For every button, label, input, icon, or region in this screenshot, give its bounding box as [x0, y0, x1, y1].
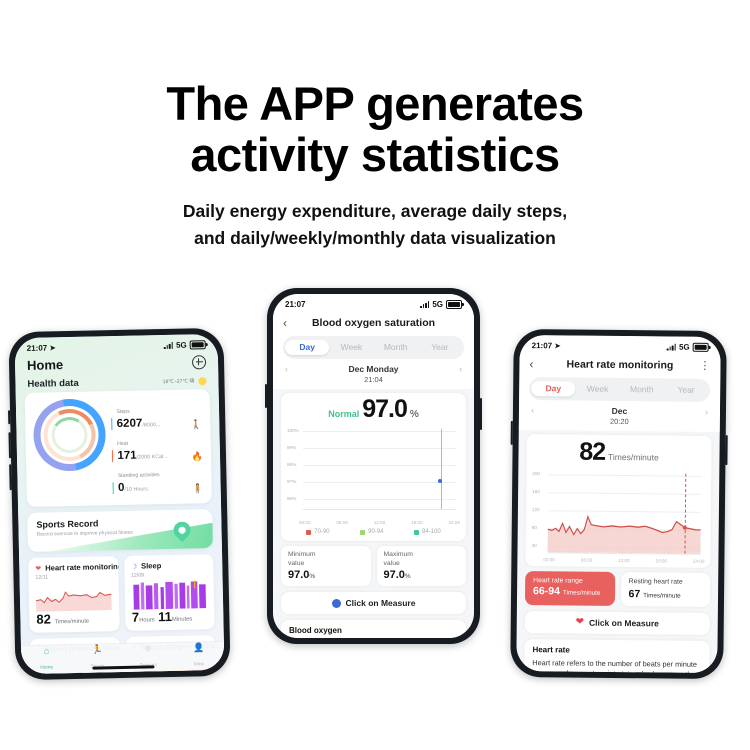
sleep-bars-chart [131, 580, 207, 610]
y-tick: 96% [287, 496, 296, 501]
tile-date: 12/11 [35, 573, 111, 581]
add-icon[interactable] [192, 355, 206, 369]
x-tick: 24:00 [449, 520, 461, 525]
maximum-value-card: Maximum value 97.0% [377, 546, 467, 586]
legend-item: 94-100 [414, 529, 441, 535]
phone-right: 21:07 ➤ 5G ‹ Heart rate monitoring ⋮ Day… [510, 329, 727, 679]
phone-center-screen: 21:07 5G ‹ Blood oxygen saturation Day W… [273, 294, 474, 638]
heart-rate-chart-card: 82 Times/minute 200 160 120 80 40 [525, 434, 711, 568]
heart-rate-reading: 82 Times/minute [526, 434, 711, 470]
prev-date-icon[interactable]: ‹ [531, 405, 534, 415]
card-value: 97.0% [288, 569, 364, 581]
nav-header: ‹ Heart rate monitoring ⋮ [519, 352, 720, 379]
stat-row-standing: Standing activities 0/10 Hours 🧍 [112, 462, 204, 496]
info-article: Blood oxygen It refers to the oxygen con… [281, 620, 466, 638]
tile-row-1: ❤ Heart rate monitoring 12/11 82 Times/m… [28, 554, 215, 633]
battery-icon [190, 340, 206, 349]
map-pin-icon [173, 522, 190, 539]
measure-label: Click on Measure [589, 617, 659, 628]
card-label: Maximum [384, 551, 460, 560]
y-tick: 120 [532, 507, 540, 512]
heart-rate-range-card: Heart rate range 66-94 Times/minute [525, 571, 615, 605]
y-tick: 98% [287, 462, 296, 467]
next-date-icon[interactable]: › [705, 407, 708, 417]
tab-label: Home [40, 665, 53, 670]
phone-right-screen: 21:07 ➤ 5G ‹ Heart rate monitoring ⋮ Day… [516, 335, 721, 673]
phone-left: 21:07 ➤ 5G Home Health data [8, 328, 230, 680]
stand-icon: 🧍 [192, 483, 204, 494]
x-tick: 12:00 [374, 520, 386, 525]
flame-icon: 🔥 [191, 451, 203, 462]
y-tick: 160 [532, 489, 540, 494]
stat-label: Standing activities [118, 472, 160, 479]
headline-block: The APP generates activity statistics Da… [0, 78, 750, 252]
stat-row-heat: Heat 171/2000 KCal... 🔥 [111, 430, 203, 464]
network-label: 5G [679, 343, 690, 352]
reading-status: Normal [328, 409, 359, 419]
status-time: 21:07 [27, 343, 48, 352]
date-nav[interactable]: ‹ Dec Monday › [273, 359, 474, 374]
status-bar: 21:07 ➤ 5G [520, 335, 721, 354]
power-button [480, 398, 482, 430]
tile-sleep[interactable]: ☽ Sleep 12/09 7Hours 11Minutes [124, 554, 215, 631]
date-label: Dec [612, 406, 628, 416]
tab-day[interactable]: Day [285, 340, 329, 355]
y-tick: 80 [532, 525, 537, 530]
signal-icon [164, 342, 174, 349]
person-icon: 👤 [173, 642, 224, 653]
moon-icon: ☽ [131, 562, 137, 570]
subheadline-line-1: Daily energy expenditure, average daily … [183, 201, 567, 221]
heart-rate-summary-row: Heart rate range 66-94 Times/minute Rest… [525, 571, 710, 606]
sun-icon [198, 377, 206, 385]
bottom-tab-bar[interactable]: ⌂Home 🏃Sports ⌾Devices 👤Mine [21, 641, 225, 674]
x-tick: 18:00 [656, 558, 668, 563]
tab-home[interactable]: ⌂Home [21, 645, 72, 674]
next-date-icon[interactable]: › [459, 364, 462, 374]
y-tick: 100% [287, 428, 299, 433]
location-arrow-icon: ➤ [49, 343, 56, 352]
y-tick: 97% [287, 479, 296, 484]
battery-icon [693, 343, 709, 352]
stat-suffix: /8000... [142, 422, 160, 428]
tab-month[interactable]: Month [374, 340, 418, 355]
tile-heart-rate[interactable]: ❤ Heart rate monitoring 12/11 82 Times/m… [28, 556, 119, 633]
more-options-icon[interactable]: ⋮ [696, 362, 710, 370]
x-tick: 06:00 [581, 558, 593, 563]
health-data-title: Health data [27, 378, 78, 390]
reading-time: 21:04 [273, 375, 474, 384]
data-point [682, 526, 686, 530]
legend-item: 70-90 [306, 529, 329, 535]
devices-icon: ⌾ [122, 643, 173, 654]
tile-title: Heart rate monitoring [45, 562, 119, 573]
legend-label: 70-90 [314, 529, 329, 535]
side-button [8, 410, 10, 424]
card-label: Minimum [288, 551, 364, 560]
network-label: 5G [432, 300, 443, 309]
tab-year[interactable]: Year [418, 340, 462, 355]
phone-left-screen: 21:07 ➤ 5G Home Health data [15, 334, 225, 674]
card-value: 66-94 Times/minute [533, 585, 607, 598]
location-arrow-icon: ➤ [554, 341, 561, 350]
signal-icon [420, 301, 429, 308]
y-tick: 99% [287, 445, 296, 450]
heart-icon: ❤ [576, 617, 584, 627]
headline-line-1: The APP generates [166, 77, 583, 130]
subheadline-line-2: and daily/weekly/monthly data visualizat… [0, 225, 750, 252]
sports-record-card[interactable]: Sports Record Record exercise to improve… [27, 509, 213, 552]
card-label: Resting heart rate [629, 578, 703, 587]
status-time: 21:07 [285, 300, 305, 309]
tile-value: 82 Times/minute [36, 610, 112, 627]
period-tabs[interactable]: Day Week Month Year [283, 336, 464, 359]
article-title: Heart rate [532, 645, 701, 656]
heart-rate-chart[interactable]: 200 160 120 80 40 [531, 470, 705, 558]
card-value: 97.0% [384, 569, 460, 581]
tab-year[interactable]: Year [664, 382, 708, 397]
y-tick: 40 [532, 543, 537, 548]
reading-value: 97.0 [362, 395, 407, 424]
tab-month[interactable]: Month [620, 382, 664, 397]
page-title: Blood oxygen saturation [297, 317, 450, 329]
card-value: 67 Times/minute [628, 588, 702, 601]
data-point [438, 479, 442, 483]
tab-mine[interactable]: 👤Mine [173, 642, 224, 671]
stat-value: 171 [117, 450, 136, 462]
health-summary-card[interactable]: Steps 6207/8000... 🚶 Heat 171/2000 KCal.… [25, 389, 212, 507]
card-label: value [384, 560, 460, 569]
stat-suffix: /2000 KCal... [137, 454, 168, 461]
article-title: Blood oxygen [289, 626, 458, 635]
stat-value: 6207 [117, 418, 143, 431]
volume-button [511, 421, 513, 445]
stat-suffix: /10 Hours [124, 486, 147, 492]
back-icon[interactable]: ‹ [283, 316, 297, 330]
tile-title: Sleep [141, 561, 161, 570]
reading-unit: % [410, 409, 419, 420]
x-tick: 12:00 [618, 558, 630, 563]
legend-label: 94-100 [422, 529, 441, 535]
tab-day[interactable]: Day [531, 381, 575, 396]
period-tabs[interactable]: Day Week Month Year [529, 377, 710, 402]
spo2-reading: Normal 97.0 % [281, 393, 466, 425]
x-tick: 24:00 [693, 559, 705, 564]
tab-week[interactable]: Week [575, 382, 619, 397]
measure-button[interactable]: Click on Measure [281, 592, 466, 614]
battery-icon [446, 300, 462, 309]
selection-line [441, 429, 442, 509]
x-tick: 00:00 [543, 557, 555, 562]
phone-center: 21:07 5G ‹ Blood oxygen saturation Day W… [267, 288, 480, 644]
prev-date-icon[interactable]: ‹ [285, 364, 288, 374]
reading-value: 82 [579, 438, 605, 467]
legend-item: 90-94 [360, 529, 383, 535]
x-tick: 06:00 [336, 520, 348, 525]
spo2-icon [332, 599, 341, 608]
promo-page: The APP generates activity statistics Da… [0, 0, 750, 750]
card-label: value [288, 560, 364, 569]
heart-rate-area-series [547, 470, 701, 554]
activity-rings [33, 398, 106, 471]
power-button [725, 435, 727, 465]
stat-row-steps: Steps 6207/8000... 🚶 [111, 398, 203, 432]
network-label: 5G [176, 341, 187, 350]
heart-icon: ❤ [35, 564, 41, 572]
tile-date: 12/09 [131, 571, 207, 579]
home-title: Home [27, 357, 63, 373]
card-label: Heart rate range [533, 577, 607, 585]
info-article: Heart rate Heart rate refers to the numb… [523, 639, 709, 674]
date-nav[interactable]: ‹ Dec › [519, 400, 720, 417]
tab-label: Mine [194, 662, 205, 667]
tile-value: 7Hours 11Minutes [132, 608, 208, 625]
home-scroll[interactable]: 21:07 ➤ 5G Home Health data [15, 334, 225, 674]
weather-widget: 18℃~27℃ 晴 [163, 377, 207, 386]
status-bar: 21:07 5G [273, 294, 474, 311]
chart-legend: 70-90 90-94 94-100 [281, 525, 466, 537]
x-tick: 18:00 [411, 520, 423, 525]
measure-button[interactable]: ❤ Click on Measure [525, 611, 710, 635]
status-time: 21:07 [532, 341, 553, 350]
nav-header: ‹ Blood oxygen saturation [273, 311, 474, 336]
resting-heart-rate-card: Resting heart rate 67 Times/minute [620, 572, 710, 606]
spo2-chart-card: Normal 97.0 % 100% 99% 98% 97% 96% 00:00 [281, 393, 466, 541]
date-label: Dec Monday [348, 364, 398, 374]
reading-time: 20:20 [519, 416, 720, 427]
volume-button [265, 384, 267, 408]
spo2-chart[interactable]: 100% 99% 98% 97% 96% [287, 427, 460, 519]
sports-icon: 🏃 [72, 644, 123, 655]
heart-rate-sparkline [36, 582, 112, 612]
subheadline: Daily energy expenditure, average daily … [0, 198, 750, 252]
measure-label: Click on Measure [346, 598, 416, 608]
minimum-value-card: Minimum value 97.0% [281, 546, 371, 586]
tab-week[interactable]: Week [329, 340, 373, 355]
weather-text: 18℃~27℃ 晴 [163, 377, 195, 385]
article-body: Heart rate refers to the number of beats… [531, 658, 701, 673]
signal-icon [667, 343, 676, 350]
min-max-row: Minimum value 97.0% Maximum value 97.0% [281, 546, 466, 586]
page-title: The APP generates activity statistics [0, 78, 750, 180]
reading-unit: Times/minute [608, 452, 659, 463]
headline-line-2: activity statistics [0, 129, 750, 180]
stat-label: Heat [117, 441, 128, 447]
legend-label: 90-94 [368, 529, 383, 535]
y-tick: 200 [532, 471, 540, 476]
x-tick: 00:00 [299, 520, 311, 525]
home-icon: ⌂ [21, 645, 72, 656]
stat-label: Steps [116, 409, 129, 415]
back-icon[interactable]: ‹ [529, 357, 543, 371]
stat-list: Steps 6207/8000... 🚶 Heat 171/2000 KCal.… [111, 396, 204, 498]
walking-icon: 🚶 [190, 419, 202, 430]
page-title: Heart rate monitoring [543, 358, 696, 372]
article-body: It refers to the oxygen content in the b… [289, 637, 458, 638]
